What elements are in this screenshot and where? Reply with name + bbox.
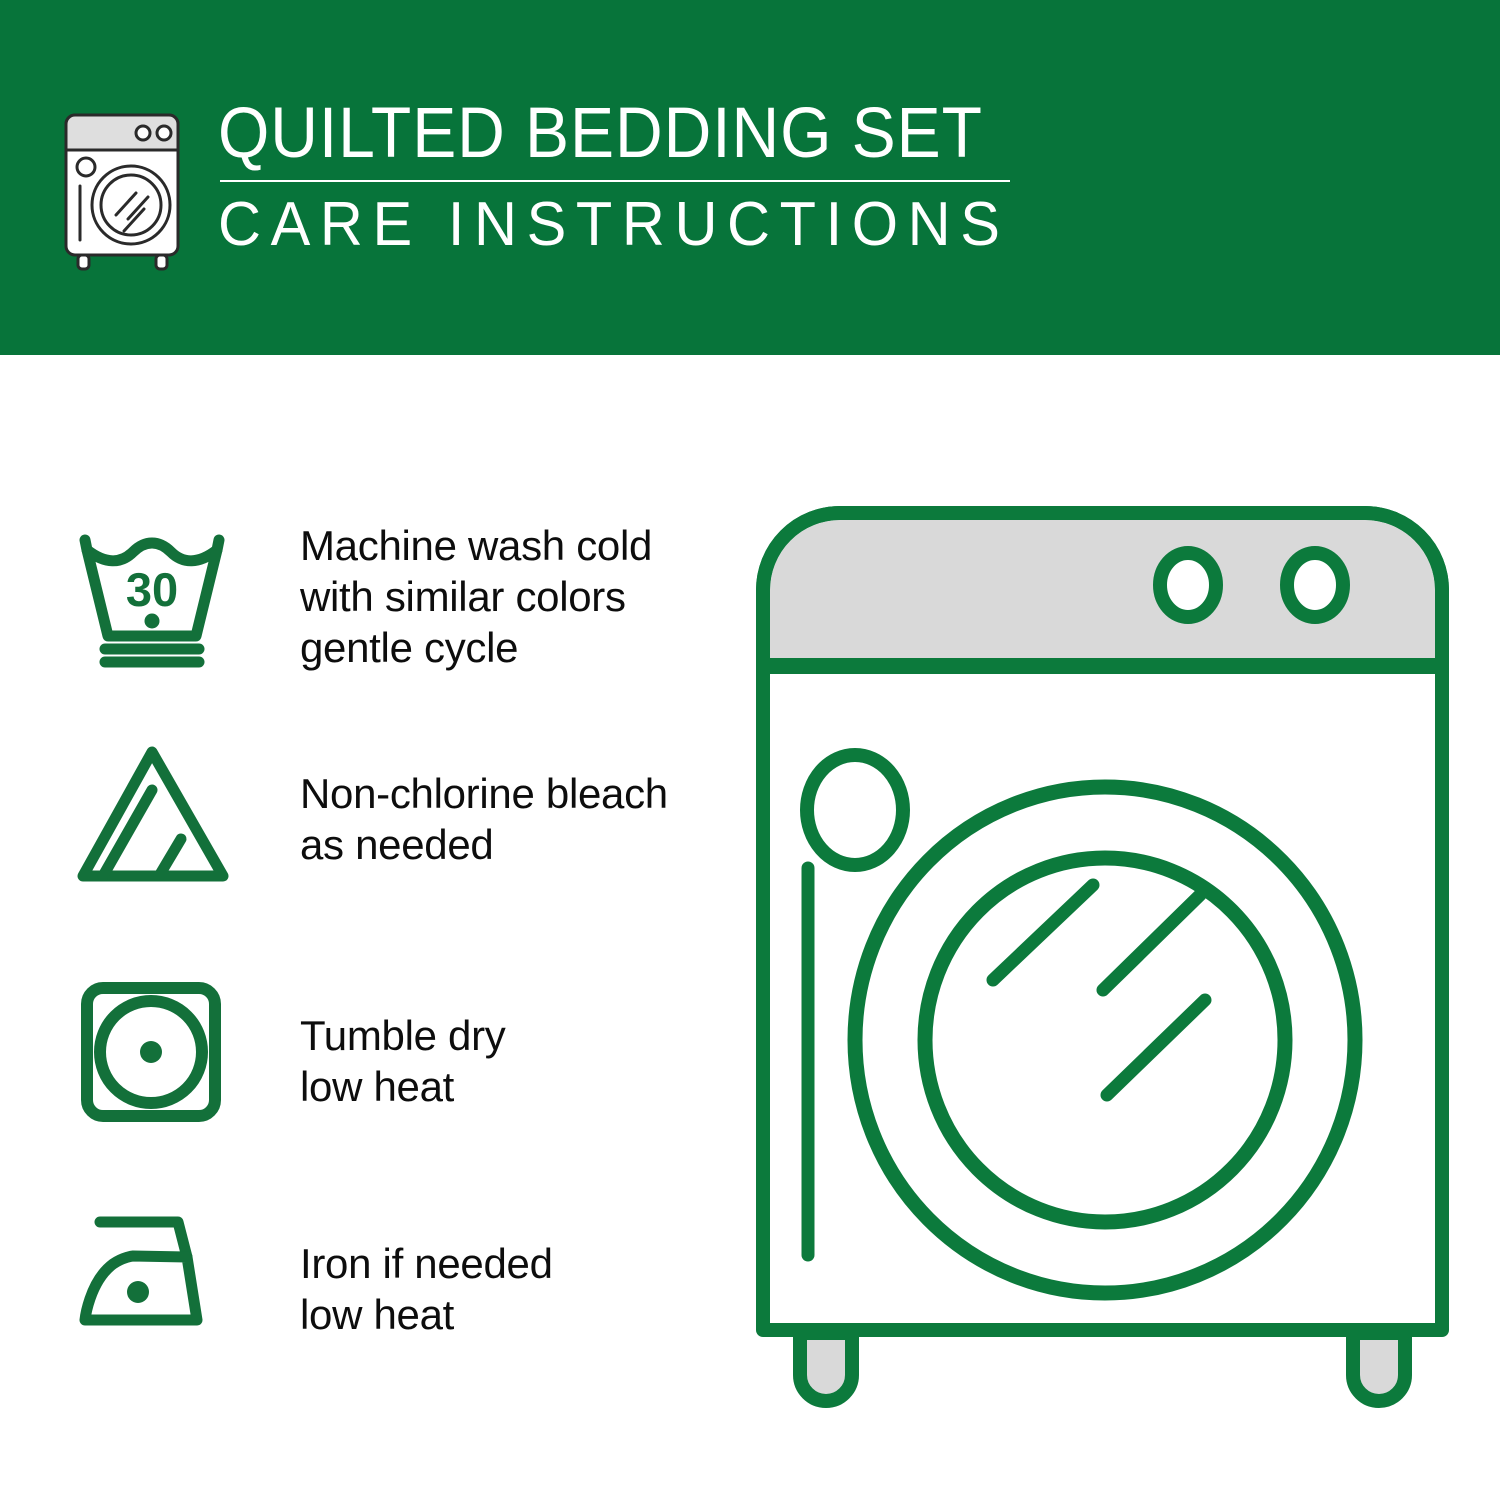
care-text-iron: Iron if needed low heat: [300, 1238, 553, 1340]
care-line: Tumble dry: [300, 1010, 506, 1061]
care-instruction-list: 30 Machine wash cold with similar colors…: [0, 355, 740, 1500]
tumble-dry-low-heat-icon: [75, 980, 240, 1125]
care-line: with similar colors: [300, 571, 652, 622]
wash-temperature-label: 30: [126, 563, 178, 616]
header-content: QUILTED BEDDING SET CARE INSTRUCTIONS: [58, 95, 1058, 275]
door-inner-ring: [925, 858, 1285, 1222]
washing-machine-icon: [58, 107, 193, 272]
header-banner: QUILTED BEDDING SET CARE INSTRUCTIONS: [0, 0, 1500, 355]
care-line: Non-chlorine bleach: [300, 768, 668, 819]
care-row-iron: Iron if needed low heat: [0, 1200, 740, 1415]
header-titles: QUILTED BEDDING SET CARE INSTRUCTIONS: [218, 95, 1058, 259]
care-row-tumble-dry: Tumble dry low heat: [0, 970, 740, 1185]
front-load-washing-machine-illustration: [745, 495, 1460, 1420]
care-text-machine-wash: Machine wash cold with similar colors ge…: [300, 520, 652, 673]
control-knob-left: [1160, 553, 1216, 617]
page-subtitle: CARE INSTRUCTIONS: [218, 191, 1024, 259]
care-instructions-page: QUILTED BEDDING SET CARE INSTRUCTIONS: [0, 0, 1500, 1500]
control-knob-right: [1287, 553, 1343, 617]
indicator-circle: [807, 755, 903, 865]
care-row-machine-wash: 30 Machine wash cold with similar colors…: [0, 520, 740, 735]
machine-leg-right: [1353, 1333, 1405, 1401]
care-line: Iron if needed: [300, 1238, 553, 1289]
iron-low-heat-icon: [75, 1210, 240, 1345]
non-chlorine-bleach-triangle-icon: [75, 738, 240, 888]
care-line: low heat: [300, 1289, 553, 1340]
care-line: Machine wash cold: [300, 520, 652, 571]
machine-leg-left: [800, 1333, 852, 1401]
care-line: gentle cycle: [300, 622, 652, 673]
title-divider: [220, 180, 1010, 182]
care-line: as needed: [300, 819, 668, 870]
wash-tub-30-gentle-icon: 30: [75, 528, 240, 668]
care-line: low heat: [300, 1061, 506, 1112]
care-row-bleach: Non-chlorine bleach as needed: [0, 730, 740, 945]
care-text-tumble-dry: Tumble dry low heat: [300, 1010, 506, 1112]
care-text-bleach: Non-chlorine bleach as needed: [300, 768, 668, 870]
page-title: QUILTED BEDDING SET: [218, 95, 999, 173]
